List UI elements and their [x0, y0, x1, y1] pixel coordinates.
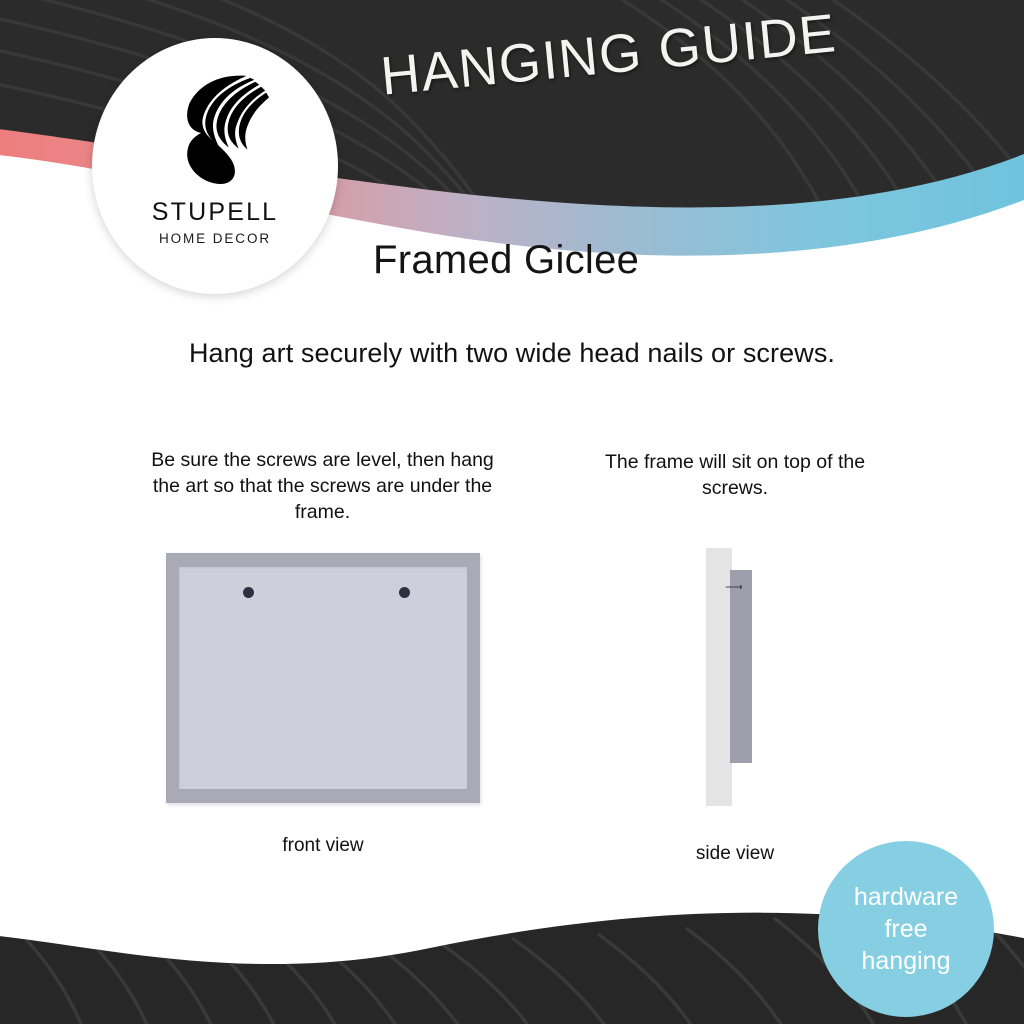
picture-frame-front [166, 553, 480, 803]
frame-mat-area [179, 567, 467, 789]
product-type-label: Framed Giclee [373, 238, 639, 283]
side-view-caption: The frame will sit on top of the screws. [590, 450, 880, 502]
badge-line-1: hardware [854, 881, 958, 913]
brand-name: STUPELL [152, 198, 279, 227]
main-instruction-text: Hang art securely with two wide head nai… [0, 338, 1024, 369]
picture-frame-side [730, 570, 752, 763]
brand-tagline: HOME DECOR [159, 231, 271, 246]
screw-dot-right-icon [399, 587, 410, 598]
front-view-caption: Be sure the screws are level, then hang … [150, 448, 495, 526]
front-view-diagram [166, 553, 480, 803]
badge-line-2: free [884, 913, 927, 945]
brand-logo-badge: STUPELL HOME DECOR [92, 38, 338, 294]
page-title: HANGING GUIDE [378, 0, 882, 108]
front-view-label: front view [173, 835, 473, 857]
screw-dot-left-icon [243, 587, 254, 598]
nail-icon [712, 585, 758, 589]
stupell-swirl-logo-icon [156, 68, 274, 188]
hanging-guide-page: STUPELL HOME DECOR HANGING GUIDE Framed … [0, 0, 1024, 1024]
hardware-free-hanging-badge: hardware free hanging [818, 841, 994, 1017]
side-view-label: side view [640, 843, 830, 865]
badge-line-3: hanging [862, 945, 951, 977]
